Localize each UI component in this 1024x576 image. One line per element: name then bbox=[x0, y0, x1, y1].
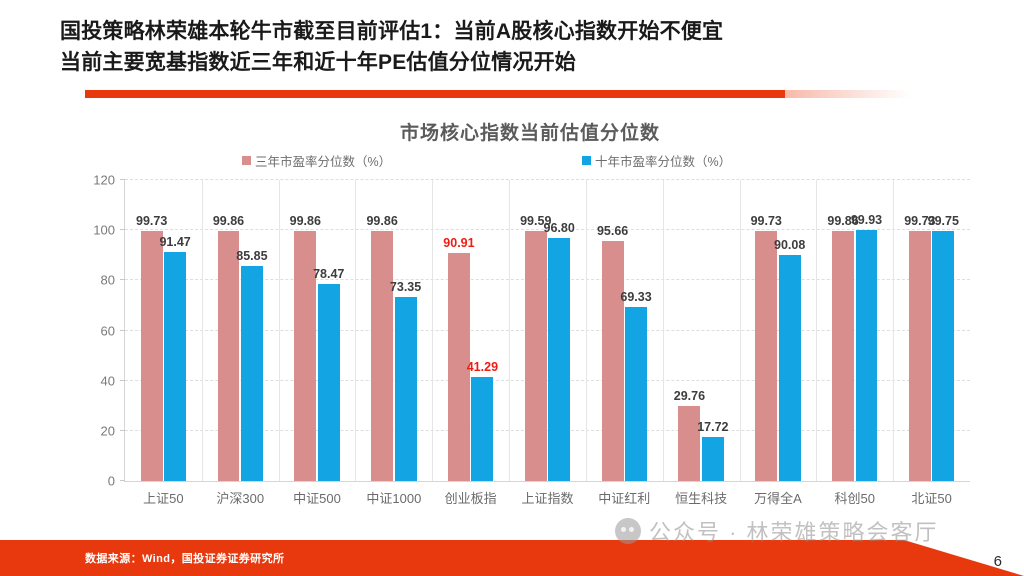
x-axis-category-label: 万得全A bbox=[754, 488, 802, 507]
bar-value-label: 69.33 bbox=[620, 290, 651, 304]
bar-value-label: 99.73 bbox=[136, 214, 167, 228]
bar-value-label: 99.86 bbox=[290, 214, 321, 228]
bar-group: 29.7617.72恒生科技 bbox=[663, 180, 740, 481]
legend-swatch-ten-year bbox=[582, 156, 591, 165]
bar-three-year[interactable]: 99.86 bbox=[218, 231, 240, 481]
bar-group: 95.6669.33中证红利 bbox=[586, 180, 663, 481]
bar-value-label: 41.29 bbox=[467, 360, 498, 374]
valuation-percentile-chart: 市场核心指数当前估值分位数 三年市盈率分位数（%） 十年市盈率分位数（%） 02… bbox=[90, 118, 970, 518]
bar-ten-year[interactable]: 90.08 bbox=[779, 255, 801, 481]
bar-value-label: 95.66 bbox=[597, 224, 628, 238]
bar-three-year[interactable]: 99.73 bbox=[755, 231, 777, 481]
bar-ten-year[interactable]: 41.29 bbox=[471, 377, 493, 481]
x-axis-category-label: 科创50 bbox=[835, 488, 875, 507]
page-title-line-1: 国投策略林荣雄本轮牛市截至目前评估1：当前A股核心指数开始不便宜 bbox=[60, 16, 980, 47]
y-axis-tick-label: 60 bbox=[101, 323, 115, 338]
bar-ten-year[interactable]: 78.47 bbox=[318, 284, 340, 481]
x-axis-category-label: 中证500 bbox=[293, 488, 341, 507]
y-axis-tick-label: 120 bbox=[93, 173, 115, 188]
legend-item-three-year[interactable]: 三年市盈率分位数（%） bbox=[242, 151, 391, 170]
page-title-line-2: 当前主要宽基指数近三年和近十年PE估值分位情况开始 bbox=[60, 47, 980, 78]
x-axis-category-label: 中证红利 bbox=[598, 488, 650, 507]
bar-three-year[interactable]: 99.86 bbox=[371, 231, 393, 481]
bar-ten-year[interactable]: 96.80 bbox=[548, 238, 570, 481]
page-number: 6 bbox=[994, 553, 1002, 570]
bar-group: 99.8699.93科创50 bbox=[816, 180, 893, 481]
x-axis-category-label: 恒生科技 bbox=[675, 488, 727, 507]
y-axis-tick-label: 0 bbox=[108, 474, 115, 489]
y-axis-tick-label: 20 bbox=[101, 423, 115, 438]
bar-value-label: 99.86 bbox=[213, 214, 244, 228]
chart-legend: 三年市盈率分位数（%） 十年市盈率分位数（%） bbox=[90, 151, 970, 171]
y-axis-tick-label: 100 bbox=[93, 223, 115, 238]
bar-group: 99.7390.08万得全A bbox=[740, 180, 817, 481]
bar-ten-year[interactable]: 99.93 bbox=[856, 230, 878, 481]
footer-source-text: 数据来源：Wind，国投证券证券研究所 bbox=[85, 550, 284, 566]
bar-value-label: 90.91 bbox=[443, 236, 474, 250]
x-axis-category-label: 上证指数 bbox=[521, 488, 573, 507]
bar-three-year[interactable]: 99.86 bbox=[832, 231, 854, 481]
bar-value-label: 90.08 bbox=[774, 238, 805, 252]
y-axis-tick-label: 40 bbox=[101, 373, 115, 388]
legend-label-ten-year: 十年市盈率分位数（%） bbox=[595, 151, 731, 170]
bar-group: 99.7399.75北证50 bbox=[893, 180, 970, 481]
bar-value-label: 99.73 bbox=[751, 214, 782, 228]
slide-root: 国投策略林荣雄本轮牛市截至目前评估1：当前A股核心指数开始不便宜 当前主要宽基指… bbox=[0, 0, 1024, 576]
legend-swatch-three-year bbox=[242, 156, 251, 165]
bar-ten-year[interactable]: 85.85 bbox=[241, 266, 263, 481]
x-axis-category-label: 创业板指 bbox=[445, 488, 497, 507]
bar-value-label: 91.47 bbox=[159, 235, 190, 249]
bar-three-year[interactable]: 99.73 bbox=[141, 231, 163, 481]
slide-title-block: 国投策略林荣雄本轮牛市截至目前评估1：当前A股核心指数开始不便宜 当前主要宽基指… bbox=[60, 16, 980, 78]
x-axis-category-label: 中证1000 bbox=[366, 488, 421, 507]
bar-value-label: 99.93 bbox=[851, 213, 882, 227]
legend-label-three-year: 三年市盈率分位数（%） bbox=[255, 151, 391, 170]
x-axis-category-label: 上证50 bbox=[143, 488, 183, 507]
chart-plot-inner: 02040608010012099.7391.47上证5099.8685.85沪… bbox=[124, 180, 970, 482]
bar-group: 99.5996.80上证指数 bbox=[509, 180, 586, 481]
wechat-icon bbox=[615, 518, 641, 544]
bar-value-label: 85.85 bbox=[236, 249, 267, 263]
bar-ten-year[interactable]: 69.33 bbox=[625, 307, 647, 481]
bar-three-year[interactable]: 99.73 bbox=[909, 231, 931, 481]
bar-ten-year[interactable]: 17.72 bbox=[702, 437, 724, 481]
title-accent-bar-fade bbox=[785, 90, 910, 98]
chart-plot-area: 02040608010012099.7391.47上证5099.8685.85沪… bbox=[124, 180, 970, 482]
bar-value-label: 99.86 bbox=[366, 214, 397, 228]
watermark-text: 公众号 · 林荣雄策略会客厅 bbox=[649, 515, 939, 547]
bar-value-label: 29.76 bbox=[674, 389, 705, 403]
bar-group: 99.8685.85沪深300 bbox=[202, 180, 279, 481]
bar-three-year[interactable]: 95.66 bbox=[602, 241, 624, 481]
bar-value-label: 99.75 bbox=[928, 214, 959, 228]
bar-ten-year[interactable]: 73.35 bbox=[395, 297, 417, 481]
watermark: 公众号 · 林荣雄策略会客厅 bbox=[615, 515, 939, 547]
bar-ten-year[interactable]: 91.47 bbox=[164, 252, 186, 481]
title-accent-bar bbox=[85, 90, 785, 98]
x-axis-category-label: 北证50 bbox=[911, 488, 951, 507]
bar-value-label: 96.80 bbox=[544, 221, 575, 235]
bar-value-label: 73.35 bbox=[390, 280, 421, 294]
chart-title: 市场核心指数当前估值分位数 bbox=[90, 118, 970, 145]
bar-ten-year[interactable]: 99.75 bbox=[932, 231, 954, 481]
y-axis-tick-label: 80 bbox=[101, 273, 115, 288]
bar-group: 99.7391.47上证50 bbox=[125, 180, 202, 481]
bar-group: 90.9141.29创业板指 bbox=[432, 180, 509, 481]
bar-group: 99.8678.47中证500 bbox=[279, 180, 356, 481]
bar-value-label: 17.72 bbox=[697, 420, 728, 434]
legend-item-ten-year[interactable]: 十年市盈率分位数（%） bbox=[582, 151, 731, 170]
bar-three-year[interactable]: 29.76 bbox=[678, 406, 700, 481]
bar-value-label: 78.47 bbox=[313, 267, 344, 281]
bar-three-year[interactable]: 99.59 bbox=[525, 231, 547, 481]
x-axis-category-label: 沪深300 bbox=[216, 488, 264, 507]
bar-group: 99.8673.35中证1000 bbox=[355, 180, 432, 481]
